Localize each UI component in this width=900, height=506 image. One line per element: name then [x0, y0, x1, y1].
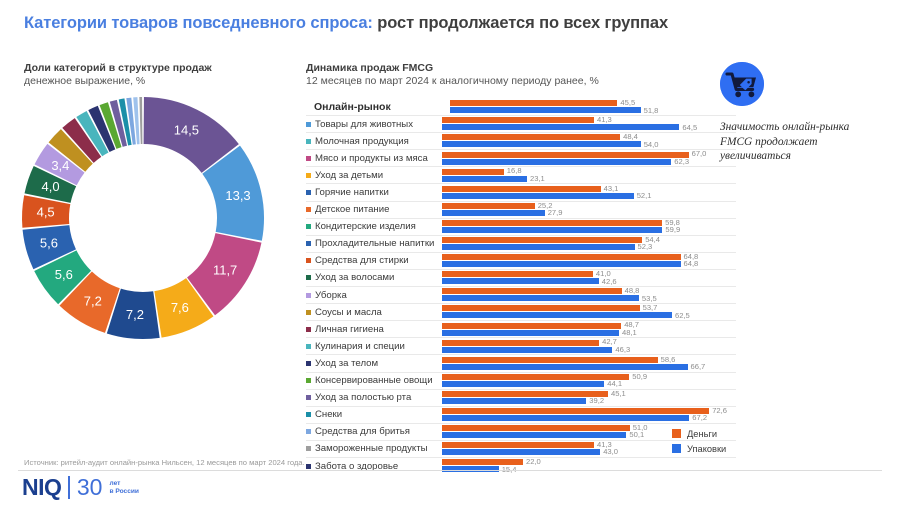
- bar-value-label-units: 64,5: [682, 123, 697, 132]
- donut-slice-label: 5,6: [40, 236, 58, 251]
- bar-segment-units: [442, 432, 626, 438]
- bar-row-label-text: Молочная продукция: [315, 136, 409, 147]
- donut-slices: [22, 97, 264, 339]
- bar-row-bullet-icon: [306, 412, 311, 417]
- bar-row-plot: 64,864,8: [442, 253, 736, 269]
- donut-slice-label: 14,5: [174, 123, 199, 138]
- bar-row: Детское питание25,227,9: [306, 201, 736, 218]
- bar-segment-units: [442, 381, 604, 387]
- bar-row-label-text: Уход за детьми: [315, 170, 383, 181]
- bar-segment-units: [442, 449, 600, 455]
- bar-row-plot: 42,746,3: [442, 338, 736, 354]
- bar-row: Прохладительные напитки54,452,3: [306, 235, 736, 252]
- bar-segment-units: [442, 415, 689, 421]
- bar-row-bullet-icon: [306, 293, 311, 298]
- bar-row-plot: 41,364,5: [442, 116, 736, 132]
- bar-segment-units: [442, 193, 634, 199]
- logo-anniversary-line2: в России: [109, 488, 139, 496]
- bar-segment-units: [442, 176, 527, 182]
- bar-row: Уход за волосами41,042,6: [306, 269, 736, 286]
- bar-value-label-money: 72,6: [712, 406, 727, 415]
- bar-row-label: Детское питание: [306, 204, 442, 215]
- bar-segment-money: [442, 134, 620, 140]
- bar-value-label-units: 39,2: [589, 396, 604, 405]
- bar-value-label-units: 43,0: [603, 447, 618, 456]
- donut-svg: 14,513,311,77,67,27,25,65,64,54,03,4: [12, 92, 274, 344]
- bar-value-label-units: 64,8: [684, 259, 699, 268]
- bar-row-label-text: Мясо и продукты из мяса: [315, 153, 428, 164]
- bar-row-bullet-icon: [306, 327, 311, 332]
- bar-row-bullet-icon: [306, 344, 311, 349]
- bar-segment-money: [442, 220, 662, 226]
- bar-row-plot: 48,748,1: [442, 321, 736, 337]
- bar-segment-units: [442, 364, 688, 370]
- bar-row-bullet-icon: [306, 378, 311, 383]
- niq-logo: NIQ 30 лет в России: [22, 476, 139, 499]
- bar-row-bullet-icon: [306, 310, 311, 315]
- bar-segment-units: [442, 210, 545, 216]
- bar-row-plot: 45,139,2: [442, 390, 736, 406]
- bar-segment-units: [442, 159, 671, 165]
- donut-slice-label: 13,3: [225, 188, 250, 203]
- source-note: Источник: ритейл-аудит онлайн-рынка Ниль…: [24, 458, 305, 467]
- bar-row-label: Прохладительные напитки: [306, 238, 442, 249]
- bar-row-label-text: Прохладительные напитки: [315, 238, 434, 249]
- bar-row-bullet-icon: [306, 275, 311, 280]
- bar-row-label-text: Уход за телом: [315, 358, 378, 369]
- bar-row-label-text: Уход за полостью рта: [315, 392, 411, 403]
- bar-segment-money: [442, 374, 629, 380]
- page-title-accent: Категории товаров повседневного спроса:: [24, 14, 373, 32]
- donut-subheading: денежное выражение, %: [24, 75, 294, 88]
- bar-row-plot: 58,666,7: [442, 355, 736, 371]
- bar-row-plot: 41,042,6: [442, 270, 736, 286]
- bar-row-label: Товары для животных: [306, 119, 442, 130]
- bar-row: Консервированные овощи50,944,1: [306, 372, 736, 389]
- logo-wordmark: NIQ: [22, 476, 61, 499]
- bar-value-label-units: 67,2: [692, 413, 707, 422]
- bar-row-bullet-icon: [306, 395, 311, 400]
- bar-value-label-units: 53,5: [642, 294, 657, 303]
- bar-row-bullet-icon: [306, 241, 311, 246]
- bar-row-label: Кондитерские изделия: [306, 221, 442, 232]
- bar-row-label-text: Уход за волосами: [315, 272, 394, 283]
- bar-segment-units: [442, 141, 641, 147]
- bar-panel-headings: Динамика продаж FMCG 12 месяцев по март …: [306, 62, 726, 88]
- bar-row-label: Личная гигиена: [306, 324, 442, 335]
- bar-row-plot: 72,667,2: [442, 407, 736, 423]
- bar-value-label-money: 48,8: [625, 286, 640, 295]
- donut-slice-label: 5,6: [55, 267, 73, 282]
- bar-value-label-units: 62,3: [674, 157, 689, 166]
- insight-note: Значимость онлайн-рынка FMCG продолжает …: [720, 120, 870, 164]
- bar-row-label: Замороженные продукты: [306, 443, 442, 454]
- bar-value-label-money: 50,9: [632, 372, 647, 381]
- bar-row: Уход за детьми16,823,1: [306, 166, 736, 183]
- bar-row-label-text: Горячие напитки: [315, 187, 389, 198]
- footer-divider: [18, 470, 882, 471]
- bar-row-label: Соусы и масла: [306, 307, 442, 318]
- bar-row-plot: 45,551,8: [450, 99, 736, 115]
- bar-segment-money: [442, 425, 630, 431]
- bar-value-label-money: 45,1: [611, 389, 626, 398]
- bar-row: Товары для животных41,364,5: [306, 115, 736, 132]
- bar-segment-units: [442, 244, 635, 250]
- bar-value-label-units: 23,1: [530, 174, 545, 183]
- bar-row: Уход за полостью рта45,139,2: [306, 389, 736, 406]
- bar-row-label: Кулинария и специи: [306, 341, 442, 352]
- bar-value-label-money: 67,0: [692, 149, 707, 158]
- bar-row-label-text: Снеки: [315, 409, 342, 420]
- bar-row-bullet-icon: [306, 446, 311, 451]
- bar-row-bullet-icon: [306, 173, 311, 178]
- bar-value-label-units: 44,1: [607, 379, 622, 388]
- donut-slice-label: 7,2: [126, 307, 144, 322]
- logo-anniversary-number: 30: [77, 476, 103, 499]
- bar-value-label-units: 27,9: [548, 208, 563, 217]
- bar-segment-money: [442, 186, 601, 192]
- bar-row-plot: 16,823,1: [442, 167, 736, 183]
- bar-row: Онлайн-рынок45,551,8: [306, 99, 736, 115]
- bar-row-plot: 54,452,3: [442, 236, 736, 252]
- bar-segment-money: [442, 169, 504, 175]
- bar-value-label-units: 59,9: [665, 225, 680, 234]
- page-title: Категории товаров повседневного спроса: …: [24, 14, 880, 33]
- bar-segment-units: [450, 107, 641, 113]
- bar-row-plot: 48,853,5: [442, 287, 736, 303]
- bar-row: Снеки72,667,2: [306, 406, 736, 423]
- bar-value-label-money: 22,0: [526, 457, 541, 466]
- legend-label-money: Деньги: [687, 429, 717, 439]
- bar-value-label-money: 48,4: [623, 132, 638, 141]
- bar-row: Соусы и масла53,762,5: [306, 303, 736, 320]
- bar-value-label-units: 50,1: [629, 430, 644, 439]
- bar-row-label: Уход за волосами: [306, 272, 442, 283]
- bar-row-plot: 25,227,9: [442, 202, 736, 218]
- bar-value-label-units: 46,3: [615, 345, 630, 354]
- bar-row-bullet-icon: [306, 139, 311, 144]
- bar-row-label-text: Консервированные овощи: [315, 375, 433, 386]
- donut-heading: Доли категорий в структуре продаж: [24, 62, 294, 75]
- bar-row-label: Уборка: [306, 290, 442, 301]
- bar-segment-money: [442, 408, 709, 414]
- bar-row-bullet-icon: [306, 361, 311, 366]
- bar-row-bullet-icon: [306, 207, 311, 212]
- bar-segment-money: [442, 357, 658, 363]
- bar-row-label-text: Онлайн-рынок: [314, 101, 391, 113]
- bar-row-label-text: Уборка: [315, 290, 347, 301]
- bar-row-plot: 53,762,5: [442, 304, 736, 320]
- bar-row-label-text: Товары для животных: [315, 119, 413, 130]
- bar-value-label-money: 43,1: [604, 184, 619, 193]
- bar-row-label-text: Средства для бритья: [315, 426, 410, 437]
- bar-row-label-text: Кулинария и специи: [315, 341, 405, 352]
- bar-row-bullet-icon: [306, 190, 311, 195]
- bar-row-label: Горячие напитки: [306, 187, 442, 198]
- bar-segment-units: [442, 312, 672, 318]
- bar-row-label-text: Соусы и масла: [315, 307, 382, 318]
- bar-segment-units: [442, 398, 586, 404]
- bar-value-label-units: 66,7: [691, 362, 706, 371]
- bar-value-label-units: 42,6: [602, 277, 617, 286]
- bar-segment-units: [442, 330, 619, 336]
- bar-row-label-text: Личная гигиена: [315, 324, 384, 335]
- bar-row: Кондитерские изделия59,859,9: [306, 218, 736, 235]
- bar-subheading: 12 месяцев по март 2024 к аналогичному п…: [306, 75, 726, 88]
- bar-row-bullet-icon: [306, 429, 311, 434]
- bar-chart-rows: Онлайн-рынок45,551,8Товары для животных4…: [306, 99, 736, 474]
- bar-segment-money: [442, 117, 594, 123]
- bar-segment-money: [450, 100, 617, 106]
- bar-row: Мясо и продукты из мяса67,062,3: [306, 149, 736, 166]
- bar-row: Личная гигиена48,748,1: [306, 320, 736, 337]
- legend-swatch-money: [672, 429, 681, 438]
- bar-value-label-units: 51,8: [644, 106, 659, 115]
- page-title-plain: рост продолжается по всех группах: [373, 14, 668, 32]
- donut-slice-label: 11,7: [213, 262, 237, 277]
- bar-row-label: Средства для стирки: [306, 255, 442, 266]
- logo-anniversary-text: лет в России: [109, 480, 139, 495]
- bar-row-label: Уход за детьми: [306, 170, 442, 181]
- bar-row-label: Консервированные овощи: [306, 375, 442, 386]
- bar-segment-money: [442, 442, 594, 448]
- bar-row-bullet-icon: [306, 122, 311, 127]
- donut-slice-label: 7,2: [84, 294, 102, 309]
- bar-segment-units: [442, 227, 662, 233]
- bar-row-plot: 50,944,1: [442, 373, 736, 389]
- legend-label-units: Упаковки: [687, 444, 726, 454]
- bar-row-label: Молочная продукция: [306, 136, 442, 147]
- bar-segment-units: [442, 261, 681, 267]
- bar-row-label: Снеки: [306, 409, 442, 420]
- bar-row-bullet-icon: [306, 156, 311, 161]
- bar-segment-units: [442, 278, 599, 284]
- bar-segment-units: [442, 347, 612, 353]
- bar-segment-money: [442, 340, 599, 346]
- bar-row-label-text: Средства для стирки: [315, 255, 409, 266]
- shopping-cart-tag-icon: [720, 62, 764, 106]
- bar-value-label-money: 58,6: [661, 355, 676, 364]
- donut-slice-label: 4,5: [37, 205, 55, 220]
- logo-separator: [68, 476, 70, 499]
- bar-row: Кулинария и специи42,746,3: [306, 337, 736, 354]
- bar-value-label-units: 52,3: [638, 242, 653, 251]
- bar-segment-units: [442, 124, 679, 130]
- bar-value-label-money: 45,5: [620, 98, 635, 107]
- chart-legend: Деньги Упаковки: [672, 426, 726, 456]
- bar-row: Уборка48,853,5: [306, 286, 736, 303]
- bar-row-label: Средства для бритья: [306, 426, 442, 437]
- bar-segment-units: [442, 295, 639, 301]
- donut-panel-headings: Доли категорий в структуре продаж денежн…: [24, 62, 294, 88]
- legend-item-money: Деньги: [672, 426, 726, 441]
- shopping-cart-tag-icon-svg: [720, 62, 764, 106]
- bar-row-plot: 22,015,4: [442, 458, 736, 474]
- donut-slice-label: 4,0: [42, 179, 60, 194]
- slide-root: Категории товаров повседневного спроса: …: [0, 0, 900, 506]
- bar-segment-money: [442, 237, 642, 243]
- bar-segment-money: [442, 288, 622, 294]
- bar-heading: Динамика продаж FMCG: [306, 62, 726, 75]
- bar-value-label-units: 52,1: [637, 191, 652, 200]
- bar-row-label: Мясо и продукты из мяса: [306, 153, 442, 164]
- bar-segment-money: [442, 391, 608, 397]
- bar-row-label-text: Кондитерские изделия: [315, 221, 416, 232]
- bar-value-label-units: 62,5: [675, 311, 690, 320]
- bar-value-label-money: 53,7: [643, 303, 658, 312]
- bar-value-label-units: 54,0: [644, 140, 659, 149]
- bar-row-plot: 67,062,3: [442, 150, 736, 166]
- bar-row: Забота о здоровье22,015,4: [306, 457, 736, 474]
- bar-row: Молочная продукция48,454,0: [306, 132, 736, 149]
- bar-row-plot: 43,152,1: [442, 184, 736, 200]
- bar-value-label-units: 48,1: [622, 328, 637, 337]
- legend-swatch-units: [672, 444, 681, 453]
- bar-row-label-text: Детское питание: [315, 204, 389, 215]
- donut-slice-label: 3,4: [51, 158, 69, 173]
- bar-row-plot: 48,454,0: [442, 133, 736, 149]
- bar-value-label-money: 16,8: [507, 166, 522, 175]
- bar-row: Уход за телом58,666,7: [306, 354, 736, 371]
- bar-segment-money: [442, 203, 535, 209]
- logo-anniversary-line1: лет: [109, 480, 139, 488]
- bar-segment-money: [442, 254, 681, 260]
- bar-segment-money: [442, 305, 640, 311]
- bar-segment-money: [442, 323, 621, 329]
- bar-value-label-money: 41,3: [597, 115, 612, 124]
- bar-row: Горячие напитки43,152,1: [306, 183, 736, 200]
- bar-row-label-text: Замороженные продукты: [315, 443, 428, 454]
- legend-item-units: Упаковки: [672, 441, 726, 456]
- bar-row-bullet-icon: [306, 258, 311, 263]
- bar-row-bullet-icon: [306, 224, 311, 229]
- insight-panel: Значимость онлайн-рынка FMCG продолжает …: [714, 62, 884, 164]
- bar-segment-money: [442, 271, 593, 277]
- bar-row-label: Онлайн-рынок: [306, 101, 450, 113]
- bar-row-bullet-icon: [306, 464, 311, 469]
- donut-chart: 14,513,311,77,67,27,25,65,64,54,03,4: [12, 92, 274, 344]
- bar-row-plot: 59,859,9: [442, 219, 736, 235]
- donut-slice-label: 7,6: [171, 300, 189, 315]
- bar-row: Средства для стирки64,864,8: [306, 252, 736, 269]
- bar-row-label: Уход за телом: [306, 358, 442, 369]
- donut-slice: [139, 97, 142, 144]
- bar-row-label: Уход за полостью рта: [306, 392, 442, 403]
- bar-segment-money: [442, 152, 689, 158]
